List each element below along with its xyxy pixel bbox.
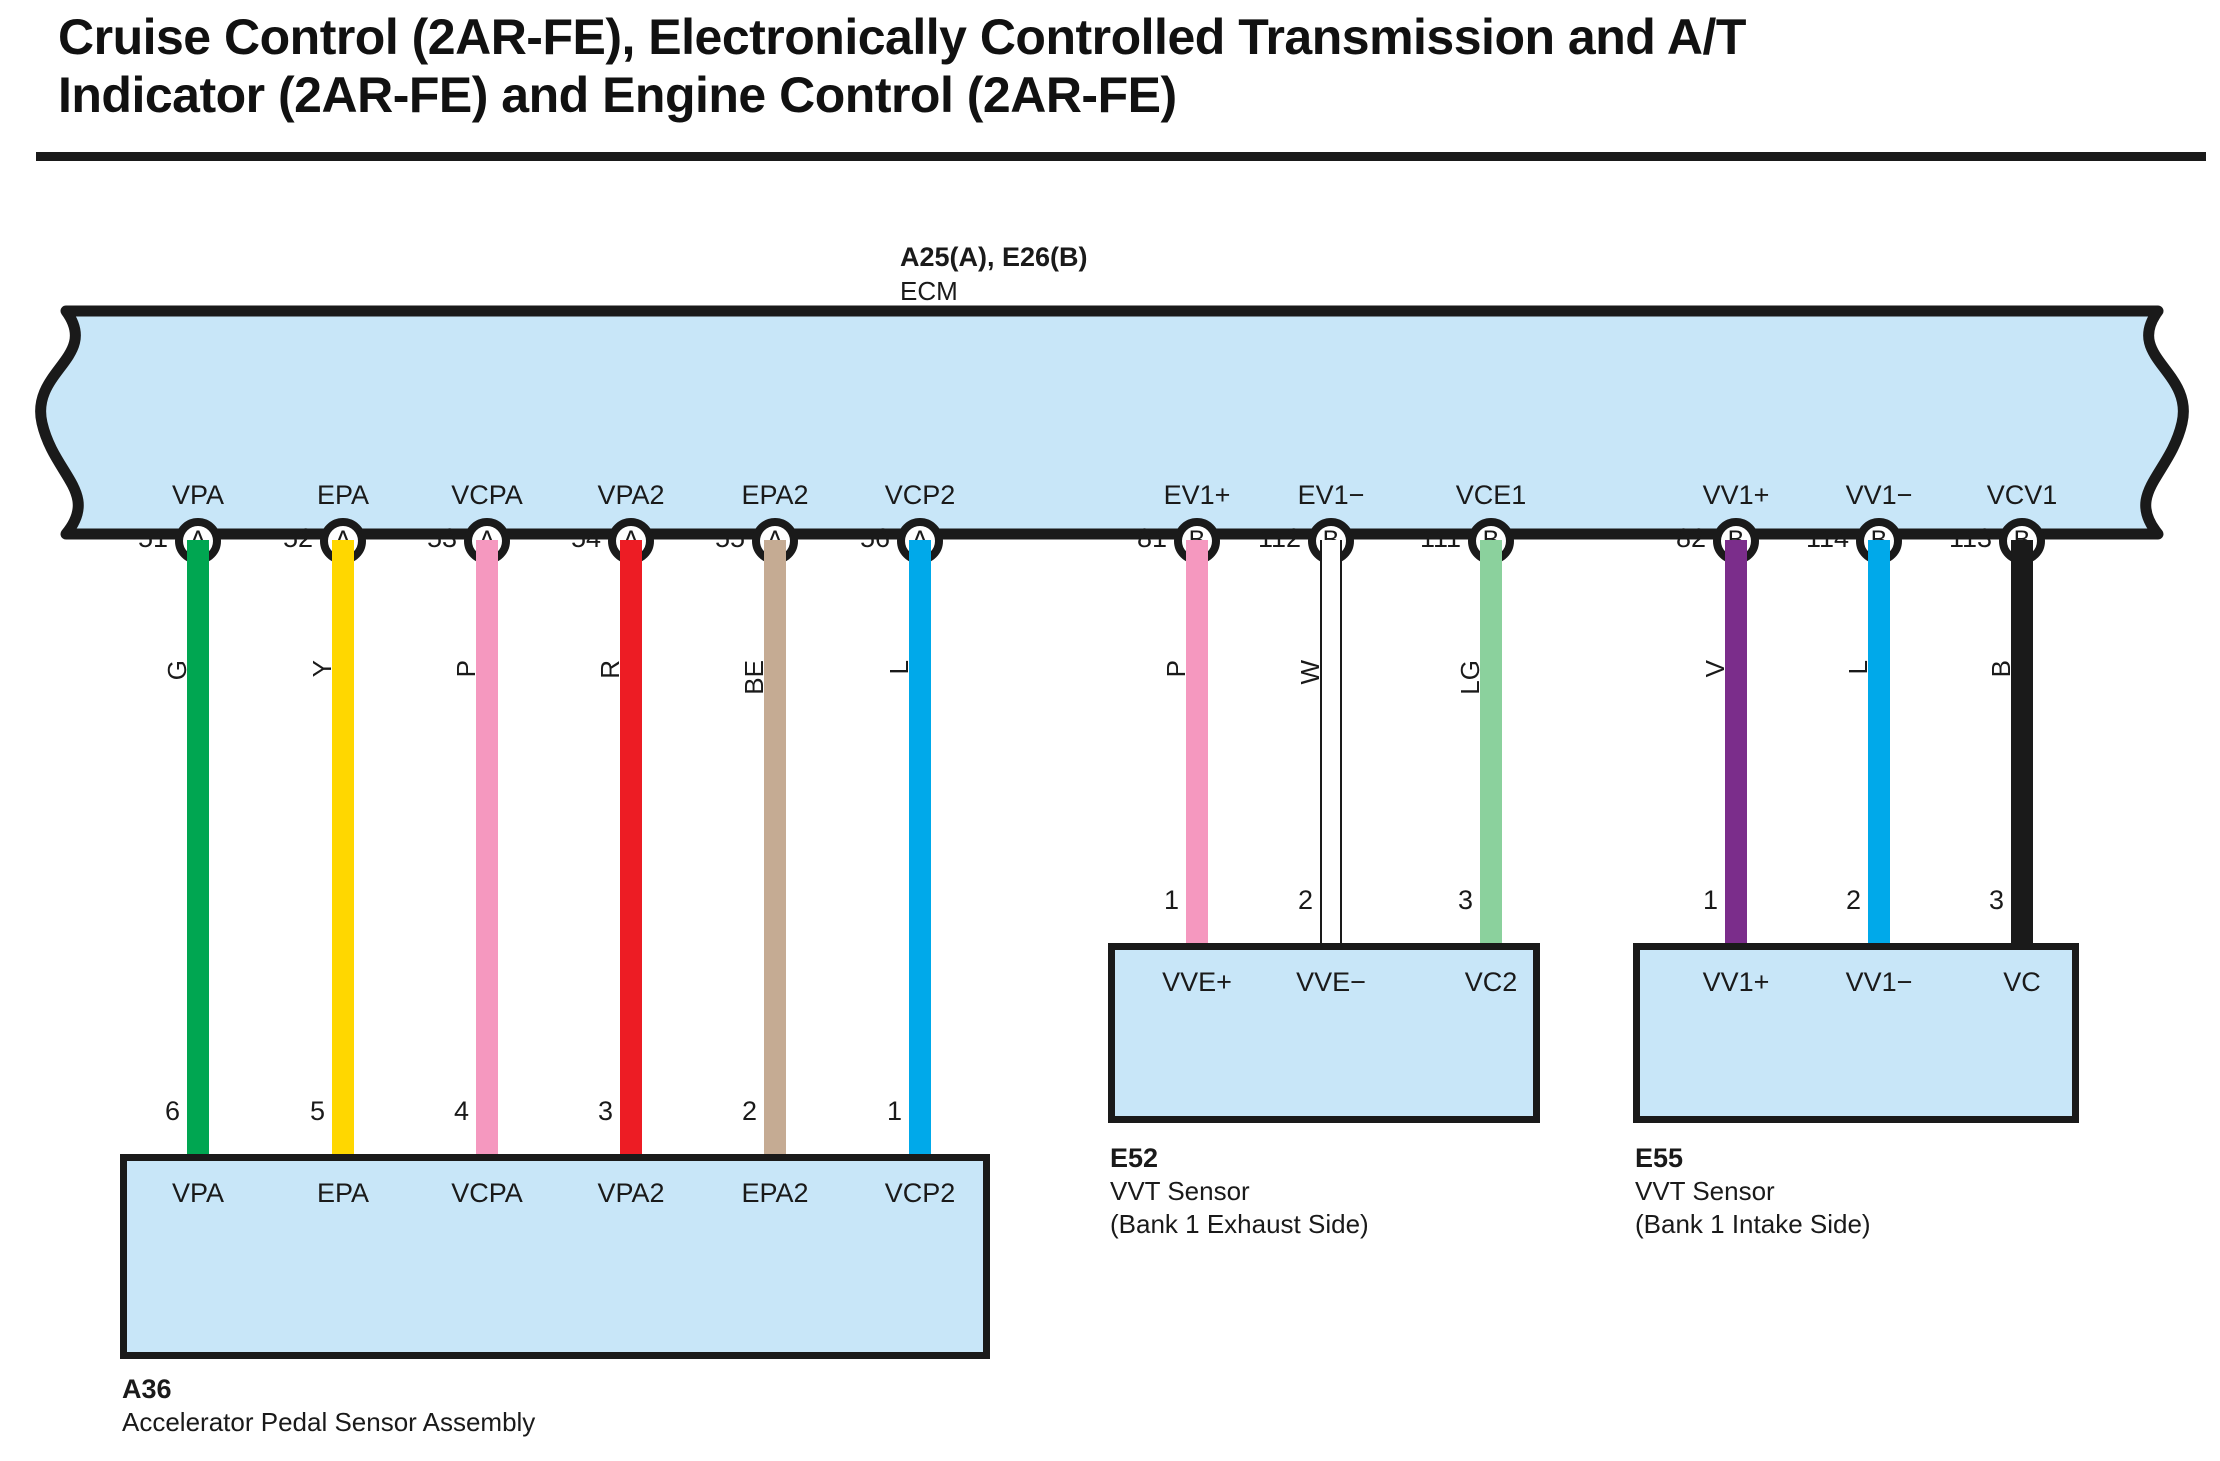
connector-name-line1-e52: VVT Sensor	[1110, 1175, 1369, 1208]
ecm-pin-number: 112	[1258, 523, 1301, 554]
connector-pin-label-e55-2: VV1−	[1846, 967, 1913, 998]
wire-VV1minus	[1868, 540, 1890, 949]
ecm-pin-label-EPA: EPA	[317, 480, 369, 511]
connector-code-e52: E52	[1110, 1141, 1369, 1175]
connector-name-line1-e55: VVT Sensor	[1635, 1175, 1871, 1208]
ecm-pin-label-VCPA: VCPA	[451, 480, 523, 511]
connector-pin-label-e55-1: VV1+	[1703, 967, 1770, 998]
wire-color-code: L	[1843, 660, 1874, 674]
connector-pin-number-a36-5: 5	[310, 1096, 325, 1127]
connector-pin-number-e55-1: 1	[1703, 885, 1718, 916]
connector-code-a36: A36	[122, 1372, 535, 1406]
wire-color-code: V	[1700, 660, 1731, 677]
wire-color-code: B	[1986, 660, 2017, 677]
ecm-pin-number: 55	[715, 523, 745, 554]
connector-pin-number-e55-2: 2	[1846, 885, 1861, 916]
connector-pin-number-e52-3: 3	[1458, 885, 1473, 916]
ecm-pin-label-EPA2: EPA2	[741, 480, 808, 511]
connector-pin-label-a36-2: EPA2	[741, 1178, 808, 1209]
connector-pin-label-a36-3: VPA2	[597, 1178, 664, 1209]
ecm-pin-label-VPA: VPA	[172, 480, 224, 511]
connector-caption-a36: A36Accelerator Pedal Sensor Assembly	[122, 1372, 535, 1439]
connector-pin-number-a36-6: 6	[165, 1096, 180, 1127]
wire-EV1+	[1186, 540, 1208, 949]
wire-color-code: G	[162, 660, 193, 680]
connector-pin-number-e55-3: 3	[1989, 885, 2004, 916]
wire-VPA	[187, 540, 209, 1160]
connector-pin-label-a36-5: EPA	[317, 1178, 369, 1209]
wire-EPA	[332, 540, 354, 1160]
ecm-pin-number: 56	[860, 523, 890, 554]
wire-color-code: W	[1295, 660, 1326, 685]
page-title-line-2: Indicator (2AR-FE) and Engine Control (2…	[58, 66, 2178, 124]
connector-name-a36: Accelerator Pedal Sensor Assembly	[122, 1406, 535, 1439]
connector-pin-number-a36-1: 1	[887, 1096, 902, 1127]
ecm-pin-number: 54	[571, 523, 601, 554]
connector-pin-number-a36-2: 2	[742, 1096, 757, 1127]
wire-color-code: P	[451, 660, 482, 677]
connector-pin-label-e52-1: VVE+	[1162, 967, 1232, 998]
wire-color-code: R	[595, 660, 626, 679]
ecm-caption: A25(A), E26(B) ECM	[900, 240, 1088, 308]
ecm-pin-label-EV1+: EV1+	[1164, 480, 1231, 511]
ecm-pin-label-EV1minus: EV1−	[1298, 480, 1365, 511]
ecm-pin-number: 111	[1420, 523, 1461, 554]
page-title: Cruise Control (2AR-FE), Electronically …	[58, 8, 2178, 124]
wire-color-code: P	[1161, 660, 1192, 677]
connector-pin-label-e52-2: VVE−	[1296, 967, 1366, 998]
ecm-connector-name: ECM	[900, 275, 1088, 308]
connector-pin-label-e55-3: VC	[2003, 967, 2041, 998]
ecm-pin-label-VCE1: VCE1	[1456, 480, 1527, 511]
ecm-pin-number: 52	[283, 523, 313, 554]
wire-color-code: LG	[1455, 660, 1486, 695]
ecm-pin-label-VPA2: VPA2	[597, 480, 664, 511]
ecm-connector-code: A25(A), E26(B)	[900, 240, 1088, 275]
wire-VPA2	[620, 540, 642, 1160]
connector-name-line2-e55: (Bank 1 Intake Side)	[1635, 1208, 1871, 1241]
wiring-diagram-page: Cruise Control (2AR-FE), Electronically …	[0, 0, 2220, 1461]
connector-pin-number-e52-2: 2	[1298, 885, 1313, 916]
ecm-pin-number: 53	[427, 523, 457, 554]
connector-pin-label-a36-4: VCPA	[451, 1178, 523, 1209]
ecm-pin-number: 113	[1949, 523, 1992, 554]
connector-pin-label-a36-6: VPA	[172, 1178, 224, 1209]
ecm-pin-label-VV1minus: VV1−	[1846, 480, 1913, 511]
wire-EPA2	[764, 540, 786, 1160]
connector-caption-e52: E52VVT Sensor(Bank 1 Exhaust Side)	[1110, 1141, 1369, 1241]
connector-pin-label-a36-1: VCP2	[885, 1178, 956, 1209]
ecm-pin-label-VCP2: VCP2	[885, 480, 956, 511]
connector-name-line2-e52: (Bank 1 Exhaust Side)	[1110, 1208, 1369, 1241]
page-title-line-1: Cruise Control (2AR-FE), Electronically …	[58, 8, 2178, 66]
wire-VCPA	[476, 540, 498, 1160]
ecm-pin-label-VCV1: VCV1	[1987, 480, 2058, 511]
connector-code-e55: E55	[1635, 1141, 1871, 1175]
wire-color-code: L	[884, 660, 915, 674]
wire-color-code: BE	[739, 660, 770, 695]
wire-VV1+	[1725, 540, 1747, 949]
connector-pin-label-e52-3: VC2	[1465, 967, 1518, 998]
title-underline-rule	[36, 152, 2206, 161]
wire-color-code: Y	[307, 660, 338, 677]
ecm-pin-number: 81	[1137, 523, 1167, 554]
ecm-pin-number: 51	[138, 523, 168, 554]
connector-pin-number-a36-3: 3	[598, 1096, 613, 1127]
connector-pin-number-a36-4: 4	[454, 1096, 469, 1127]
wire-EV1minus	[1320, 540, 1342, 949]
connector-pin-number-e52-1: 1	[1164, 885, 1179, 916]
ecm-pin-number: 82	[1676, 523, 1706, 554]
wire-VCE1	[1480, 540, 1502, 949]
ecm-pin-number: 114	[1806, 523, 1849, 554]
connector-box-a36	[120, 1154, 990, 1359]
ecm-pin-label-VV1+: VV1+	[1703, 480, 1770, 511]
wire-VCV1	[2011, 540, 2033, 949]
wire-VCP2	[909, 540, 931, 1160]
connector-caption-e55: E55VVT Sensor(Bank 1 Intake Side)	[1635, 1141, 1871, 1241]
